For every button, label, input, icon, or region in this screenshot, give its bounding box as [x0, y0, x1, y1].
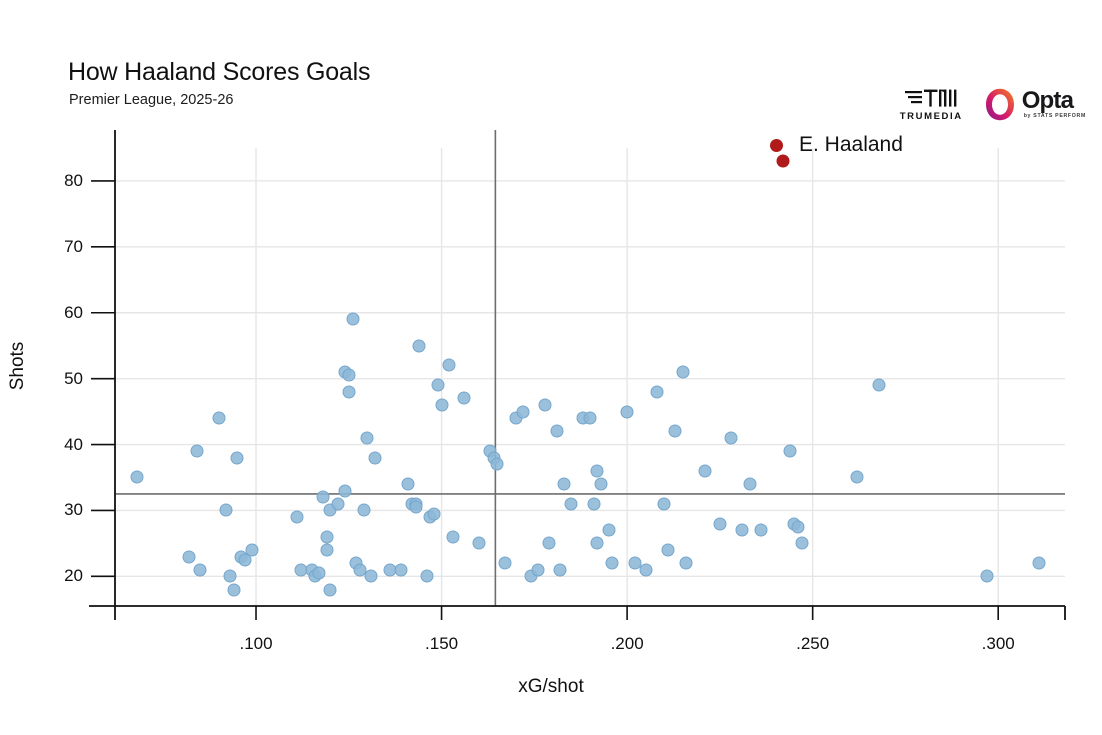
data-point[interactable]: [784, 445, 797, 458]
data-point[interactable]: [339, 484, 352, 497]
data-point[interactable]: [361, 431, 374, 444]
data-point-haaland[interactable]: [776, 155, 789, 168]
data-point[interactable]: [713, 517, 726, 530]
chart-root: How Haaland Scores Goals Premier League,…: [0, 0, 1102, 735]
data-point[interactable]: [558, 478, 571, 491]
data-point[interactable]: [587, 497, 600, 510]
data-point[interactable]: [227, 583, 240, 596]
data-point[interactable]: [680, 557, 693, 570]
data-point[interactable]: [517, 405, 530, 418]
data-point[interactable]: [539, 399, 552, 412]
data-point[interactable]: [346, 313, 359, 326]
data-point[interactable]: [591, 537, 604, 550]
data-point[interactable]: [290, 511, 303, 524]
data-point[interactable]: [725, 431, 738, 444]
data-point[interactable]: [324, 583, 337, 596]
data-point[interactable]: [313, 567, 326, 580]
data-point[interactable]: [331, 497, 344, 510]
data-point[interactable]: [791, 520, 804, 533]
data-point[interactable]: [446, 530, 459, 543]
data-point[interactable]: [565, 497, 578, 510]
data-point[interactable]: [457, 392, 470, 405]
data-point[interactable]: [231, 451, 244, 464]
data-point[interactable]: [428, 507, 441, 520]
data-point[interactable]: [981, 570, 994, 583]
data-point[interactable]: [595, 478, 608, 491]
data-point[interactable]: [498, 557, 511, 570]
data-point[interactable]: [621, 405, 634, 418]
data-point[interactable]: [736, 524, 749, 537]
data-point[interactable]: [606, 557, 619, 570]
data-point[interactable]: [602, 524, 615, 537]
data-point[interactable]: [658, 497, 671, 510]
x-axis-title: xG/shot: [0, 676, 1102, 698]
data-point[interactable]: [543, 537, 556, 550]
data-point[interactable]: [394, 563, 407, 576]
data-point[interactable]: [554, 563, 567, 576]
data-point[interactable]: [342, 385, 355, 398]
data-point[interactable]: [320, 543, 333, 556]
data-point[interactable]: [639, 563, 652, 576]
data-point[interactable]: [342, 369, 355, 382]
data-point[interactable]: [550, 425, 563, 438]
data-point[interactable]: [591, 464, 604, 477]
data-point[interactable]: [357, 504, 370, 517]
data-point[interactable]: [220, 504, 233, 517]
data-point[interactable]: [442, 359, 455, 372]
data-point[interactable]: [743, 478, 756, 491]
data-point[interactable]: [194, 563, 207, 576]
data-point[interactable]: [472, 537, 485, 550]
data-point[interactable]: [532, 563, 545, 576]
data-point[interactable]: [409, 501, 422, 514]
data-point[interactable]: [699, 464, 712, 477]
data-point[interactable]: [584, 412, 597, 425]
data-point[interactable]: [1033, 557, 1046, 570]
data-point[interactable]: [183, 550, 196, 563]
data-point[interactable]: [190, 445, 203, 458]
data-point[interactable]: [491, 458, 504, 471]
data-point[interactable]: [661, 543, 674, 556]
data-point[interactable]: [320, 530, 333, 543]
data-point[interactable]: [402, 478, 415, 491]
data-point[interactable]: [873, 379, 886, 392]
data-point[interactable]: [851, 471, 864, 484]
data-point[interactable]: [316, 491, 329, 504]
y-axis-title: Shots: [7, 326, 29, 406]
data-point[interactable]: [365, 570, 378, 583]
data-point[interactable]: [224, 570, 237, 583]
data-point[interactable]: [131, 471, 144, 484]
data-point[interactable]: [246, 543, 259, 556]
data-point[interactable]: [754, 524, 767, 537]
data-point[interactable]: [435, 399, 448, 412]
data-point[interactable]: [650, 385, 663, 398]
data-point[interactable]: [212, 412, 225, 425]
scatter-plot: 20304050607080.100.150.200.250.300: [0, 0, 1102, 735]
data-point[interactable]: [413, 339, 426, 352]
data-point[interactable]: [368, 451, 381, 464]
data-point[interactable]: [431, 379, 444, 392]
data-point[interactable]: [669, 425, 682, 438]
plot-canvas: [0, 0, 1102, 735]
data-point[interactable]: [676, 366, 689, 379]
data-point[interactable]: [795, 537, 808, 550]
data-point[interactable]: [420, 570, 433, 583]
